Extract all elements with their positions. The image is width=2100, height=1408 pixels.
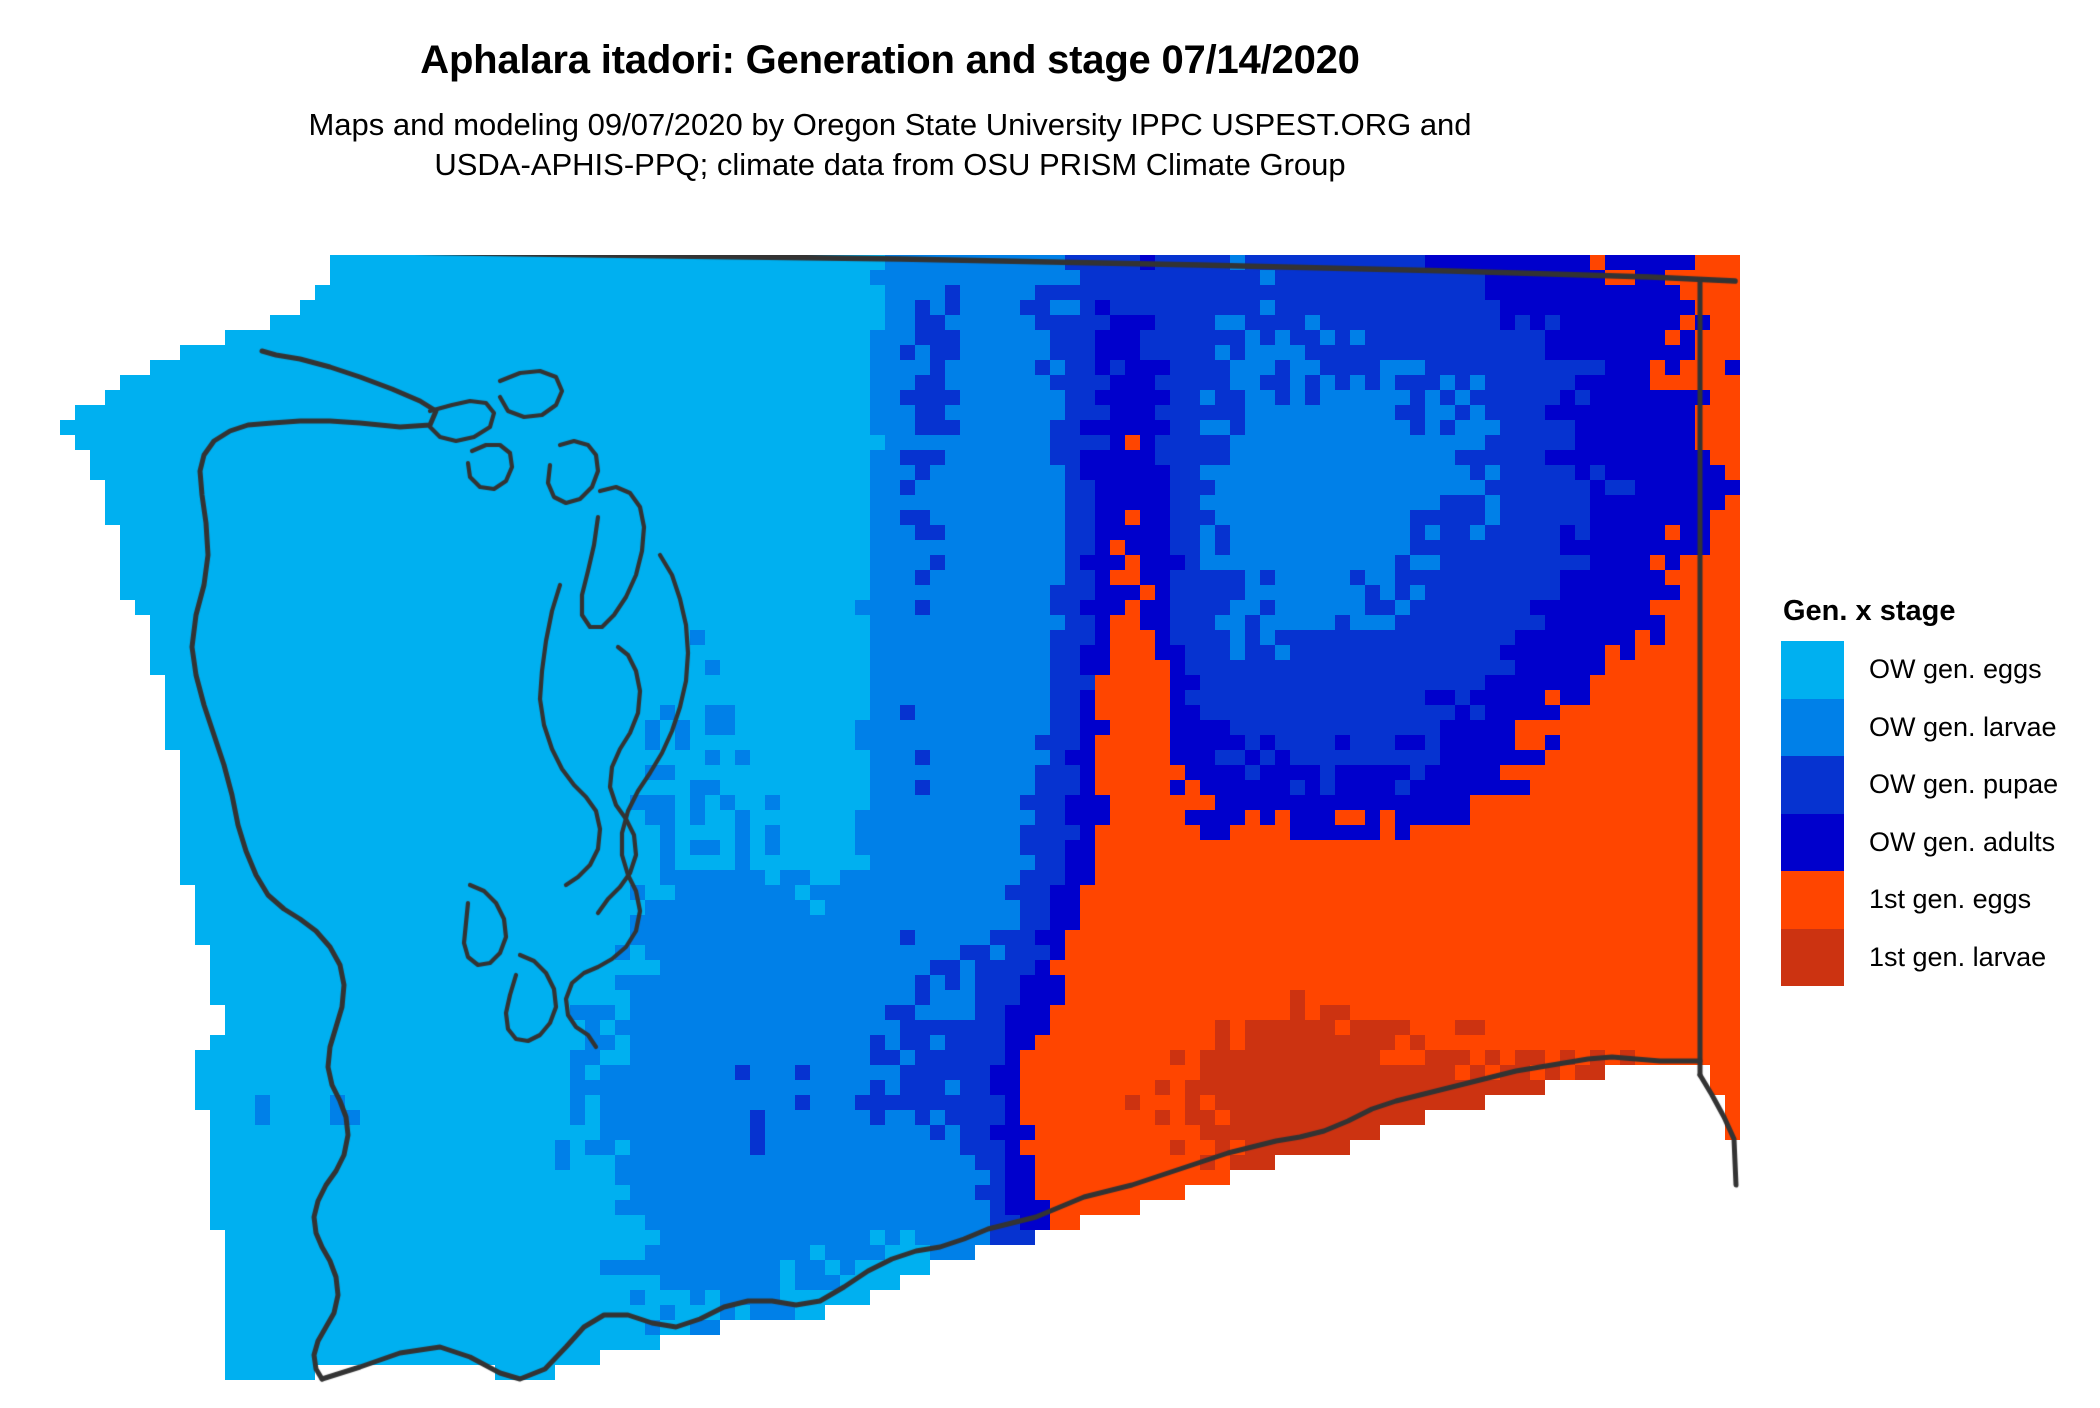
map-panel[interactable] (0, 255, 1790, 1385)
legend-swatch (1781, 641, 1844, 699)
page-title: Aphalara itadori: Generation and stage 0… (0, 38, 1780, 83)
subtitle-line-1: Maps and modeling 09/07/2020 by Oregon S… (0, 105, 1780, 145)
legend-item-label: OW gen. larvae (1869, 714, 2057, 741)
legend-item-label: OW gen. eggs (1869, 656, 2042, 683)
legend-item: OW gen. larvae (1781, 699, 2081, 757)
legend-swatch (1781, 929, 1844, 987)
legend-item: 1st gen. eggs (1781, 871, 2081, 929)
legend-item-label: 1st gen. larvae (1869, 944, 2046, 971)
legend: Gen. x stage OW gen. eggsOW gen. larvaeO… (1781, 595, 2081, 986)
legend-item: 1st gen. larvae (1781, 929, 2081, 987)
legend-items: OW gen. eggsOW gen. larvaeOW gen. pupaeO… (1781, 641, 2081, 986)
subtitle-line-2: USDA-APHIS-PPQ; climate data from OSU PR… (0, 145, 1780, 185)
legend-item-label: 1st gen. eggs (1869, 886, 2031, 913)
legend-item-label: OW gen. pupae (1869, 771, 2058, 798)
legend-swatch (1781, 871, 1844, 929)
legend-item: OW gen. eggs (1781, 641, 2081, 699)
legend-item: OW gen. adults (1781, 814, 2081, 872)
legend-swatch (1781, 756, 1844, 814)
legend-title: Gen. x stage (1783, 595, 2081, 628)
legend-swatch (1781, 699, 1844, 757)
legend-item-label: OW gen. adults (1869, 829, 2055, 856)
legend-item: OW gen. pupae (1781, 756, 2081, 814)
map-raster[interactable] (0, 255, 1790, 1385)
title-block: Aphalara itadori: Generation and stage 0… (0, 0, 1780, 185)
legend-swatch (1781, 814, 1844, 872)
map-subtitle: Maps and modeling 09/07/2020 by Oregon S… (0, 105, 1780, 186)
